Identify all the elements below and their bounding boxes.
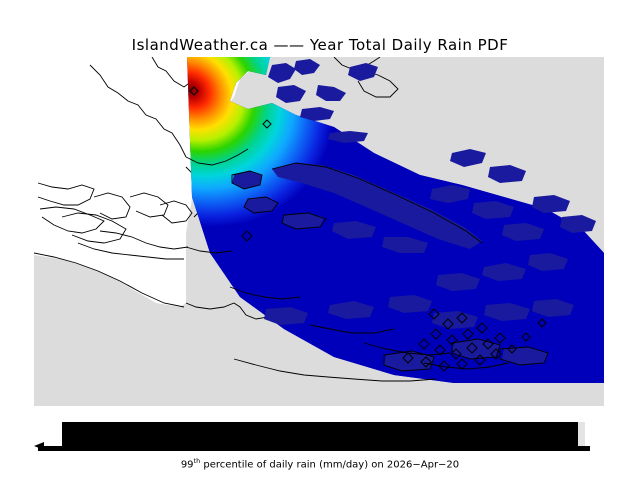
colorbar-tick-labels xyxy=(34,450,604,456)
map-canvas[interactable] xyxy=(34,57,604,406)
caption-prefix: 99 xyxy=(181,459,194,470)
map-panel[interactable] xyxy=(34,57,604,406)
colorbar[interactable] xyxy=(34,420,604,452)
colorbar-gradient[interactable] xyxy=(62,422,578,446)
figure-caption: 99th percentile of daily rain (mm/day) o… xyxy=(0,457,640,470)
caption-suffix: percentile of daily rain (mm/day) on 202… xyxy=(200,459,459,470)
weather-figure: IslandWeather.ca —— Year Total Daily Rai… xyxy=(0,0,640,480)
colorbar-endcap xyxy=(578,422,585,446)
page-title: IslandWeather.ca —— Year Total Daily Rai… xyxy=(0,36,640,54)
